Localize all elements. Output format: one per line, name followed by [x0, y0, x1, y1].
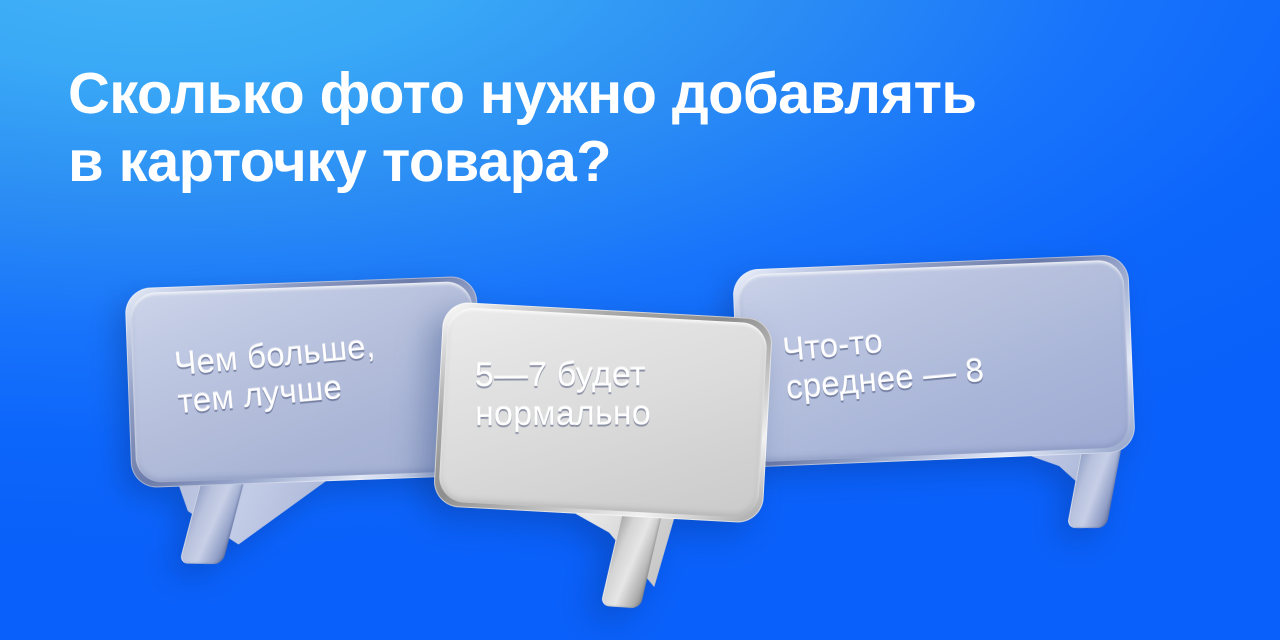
- bubble-2-label: 5—7 будет нормально: [475, 355, 651, 433]
- page-title: Сколько фото нужно добавлять в карточку …: [68, 60, 1248, 196]
- poster-canvas: Сколько фото нужно добавлять в карточку …: [0, 0, 1280, 640]
- bubble-3-body: Что-то среднее — 8: [732, 254, 1136, 468]
- speech-bubble-3[interactable]: Что-то среднее — 8: [732, 254, 1136, 468]
- speech-bubble-1[interactable]: Чем больше, тем лучше: [124, 276, 483, 489]
- bubble-1-body: Чем больше, тем лучше: [124, 276, 483, 489]
- speech-bubble-2[interactable]: 5—7 будет нормально: [433, 301, 774, 524]
- bubble-2-body: 5—7 будет нормально: [433, 301, 774, 524]
